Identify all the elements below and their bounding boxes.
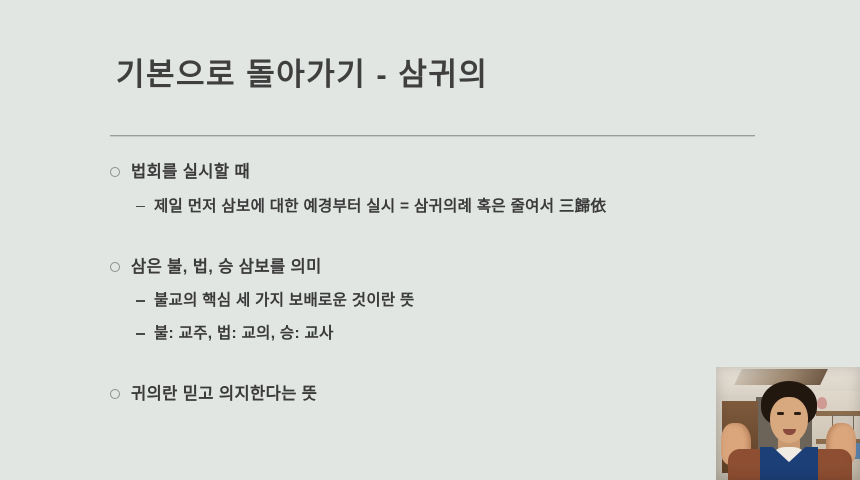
bullet-item-level1: 귀의란 믿고 의지한다는 뜻: [110, 382, 770, 408]
presenter-webcam-overlay[interactable]: [716, 367, 860, 480]
bullet-item-level1: 법회를 실시할 때: [110, 160, 770, 186]
dash-bullet-icon: [136, 333, 145, 335]
dash-bullet-icon: [136, 300, 145, 302]
bullet-text: 귀의란 믿고 의지한다는 뜻: [131, 382, 317, 408]
slide-body: 법회를 실시할 때 제일 먼저 삼보에 대한 예경부터 실시 = 삼귀의례 혹은…: [110, 160, 770, 408]
bullet-text: 제일 먼저 삼보에 대한 예경부터 실시 = 삼귀의례 혹은 줄여서 三歸依: [154, 195, 606, 219]
bullet-item-level2: 불교의 핵심 세 가지 보배로운 것이란 뜻: [136, 289, 770, 313]
page-title: 기본으로 돌아가기 - 삼귀의: [116, 56, 488, 93]
circle-bullet-icon: [110, 167, 120, 177]
bullet-text: 불교의 핵심 세 가지 보배로운 것이란 뜻: [154, 289, 415, 313]
presentation-slide: 기본으로 돌아가기 - 삼귀의 법회를 실시할 때 제일 먼저 삼보에 대한 예…: [0, 0, 860, 480]
bullet-group: 삼은 불, 법, 승 삼보를 의미 불교의 핵심 세 가지 보배로운 것이란 뜻…: [110, 255, 770, 347]
shelf-object: [817, 397, 827, 409]
bullet-text: 삼은 불, 법, 승 삼보를 의미: [131, 255, 322, 281]
dash-bullet-icon: [136, 206, 145, 208]
presenter-eye-left: [777, 412, 784, 415]
bullet-group: 법회를 실시할 때 제일 먼저 삼보에 대한 예경부터 실시 = 삼귀의례 혹은…: [110, 160, 770, 219]
bullet-item-level2: 불: 교주, 법: 교의, 승: 교사: [136, 322, 770, 346]
title-divider: [110, 135, 755, 137]
bullet-item-level1: 삼은 불, 법, 승 삼보를 의미: [110, 255, 770, 281]
spacer: [110, 368, 770, 382]
bullet-item-level2: 제일 먼저 삼보에 대한 예경부터 실시 = 삼귀의례 혹은 줄여서 三歸依: [136, 195, 770, 219]
circle-bullet-icon: [110, 389, 120, 399]
bullet-text: 법회를 실시할 때: [131, 160, 250, 186]
spacer: [110, 241, 770, 255]
bullet-text: 불: 교주, 법: 교의, 승: 교사: [154, 322, 334, 346]
circle-bullet-icon: [110, 262, 120, 272]
presenter-face: [770, 397, 808, 443]
presenter-eye-right: [794, 412, 801, 415]
bullet-group: 귀의란 믿고 의지한다는 뜻: [110, 382, 770, 408]
